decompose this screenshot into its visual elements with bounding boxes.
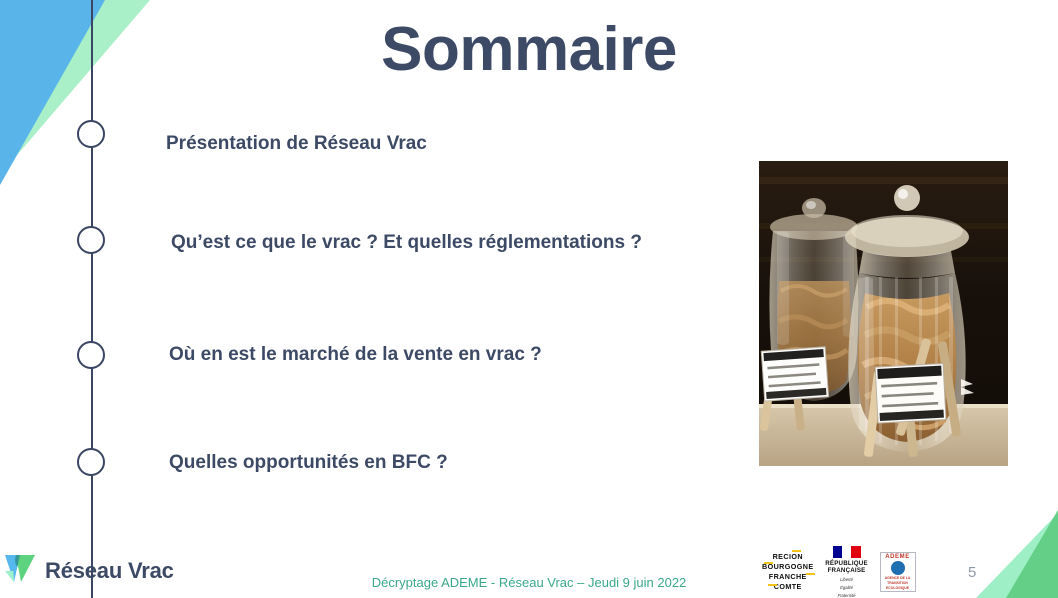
page-title: Sommaire (0, 14, 1058, 85)
globe-icon (891, 561, 905, 575)
rf-motto-2: Égalité (825, 585, 869, 591)
ademe-sub-1: AGENCE DE LA (885, 576, 911, 580)
timeline-dot-4 (77, 448, 105, 476)
rf-line-1: RÉPUBLIQUE (825, 560, 869, 567)
region-tick-1 (792, 550, 801, 552)
logo-ademe: ADEME AGENCE DE LA TRANSITION ECOLOGIQUE (880, 552, 916, 592)
page-number: 5 (968, 564, 976, 581)
agenda-item-2: Qu’est ce que le vrac ? Et quelles régle… (171, 232, 642, 254)
rf-line-2: FRANÇAISE (825, 567, 869, 574)
ademe-sub-3: ECOLOGIQUE (886, 586, 909, 590)
rf-motto-3: Fraternité (825, 593, 869, 598)
rf-motto-1: Liberté (825, 577, 869, 583)
agenda-item-1: Présentation de Réseau Vrac (166, 133, 427, 155)
region-tick-3 (806, 573, 815, 575)
region-tick-2 (764, 562, 773, 564)
timeline-dot-3 (77, 341, 105, 369)
partner-logos: RECION BOURGOGNE FRANCHE COMTE RÉPUBLIQU… (762, 546, 916, 598)
agenda-item-3: Où en est le marché de la vente en vrac … (169, 344, 542, 366)
agenda-item-4: Quelles opportunités en BFC ? (169, 452, 448, 474)
slide-sommaire: Sommaire Présentation de Réseau Vrac Qu’… (0, 0, 1058, 598)
reseau-vrac-logo-mark (4, 552, 36, 589)
ademe-sub-2: TRANSITION (887, 581, 908, 585)
french-flag-icon (833, 546, 861, 558)
region-tick-4 (768, 584, 777, 586)
reseau-vrac-logo-text: Réseau Vrac (45, 558, 174, 584)
bulk-store-jars-illustration (759, 161, 1008, 466)
logo-republique-francaise: RÉPUBLIQUE FRANÇAISE Liberté Égalité Fra… (825, 546, 869, 598)
region-line-1: RECION (762, 552, 814, 562)
bulk-store-jars-photo (759, 161, 1008, 466)
reseau-vrac-logo: Réseau Vrac (4, 552, 174, 589)
timeline-vertical-line (91, 0, 93, 598)
timeline-dot-2 (77, 226, 105, 254)
timeline-dot-1 (77, 120, 105, 148)
logo-region-bourgogne-franche-comte: RECION BOURGOGNE FRANCHE COMTE (762, 552, 814, 593)
ademe-wordmark: ADEME (885, 554, 910, 560)
